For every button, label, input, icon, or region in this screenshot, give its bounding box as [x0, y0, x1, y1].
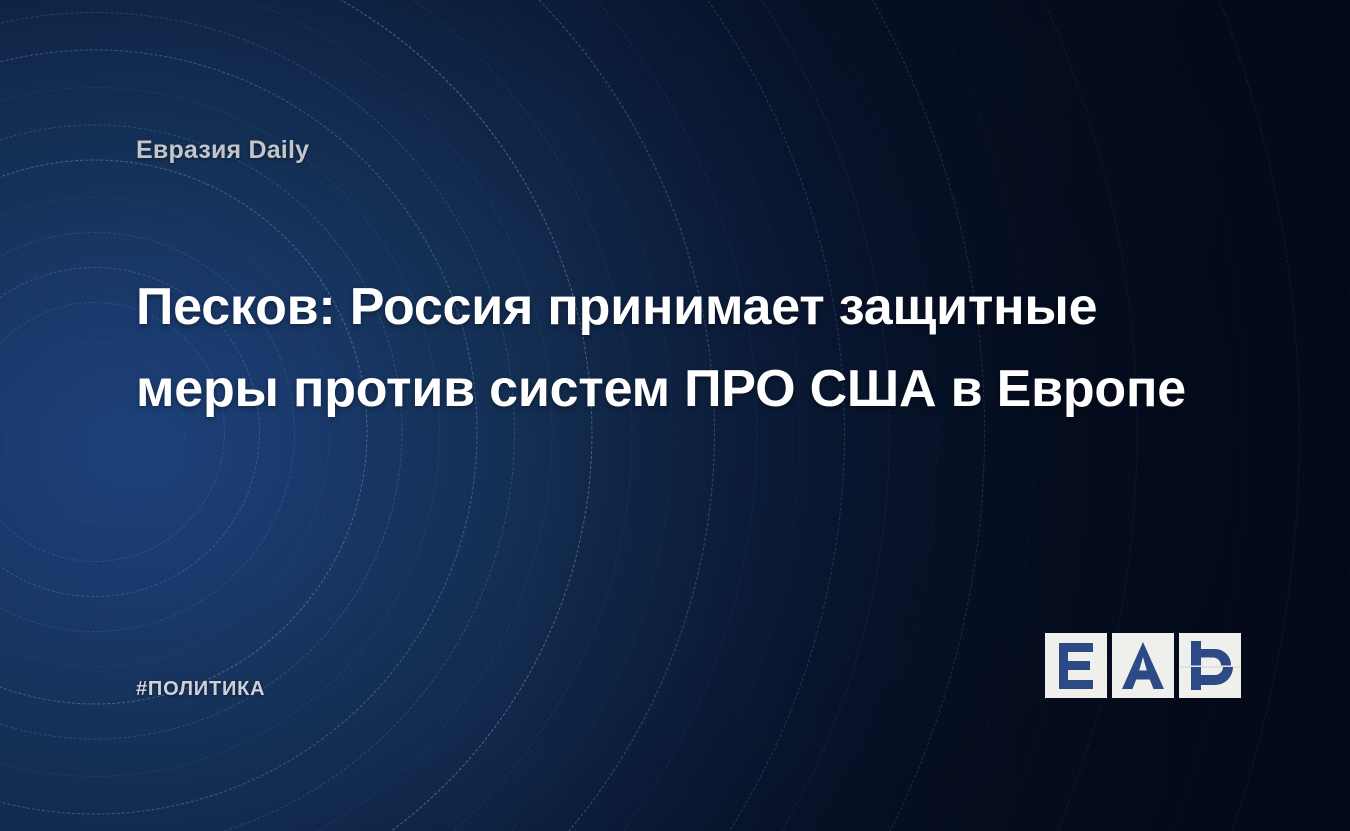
- logo-tile-d: [1179, 633, 1241, 698]
- card-content: Евразия Daily Песков: Россия принимает з…: [0, 0, 1350, 831]
- logo-tile-e: [1045, 633, 1107, 698]
- headline: Песков: Россия принимает защитные меры п…: [136, 266, 1246, 430]
- logo-tile-a: [1112, 633, 1174, 698]
- brand-label: Евразия Daily: [136, 136, 309, 165]
- category-tag: #ПОЛИТИКА: [136, 678, 265, 701]
- eadaily-logo: [1045, 633, 1241, 698]
- news-social-card: Евразия Daily Песков: Россия принимает з…: [0, 0, 1350, 831]
